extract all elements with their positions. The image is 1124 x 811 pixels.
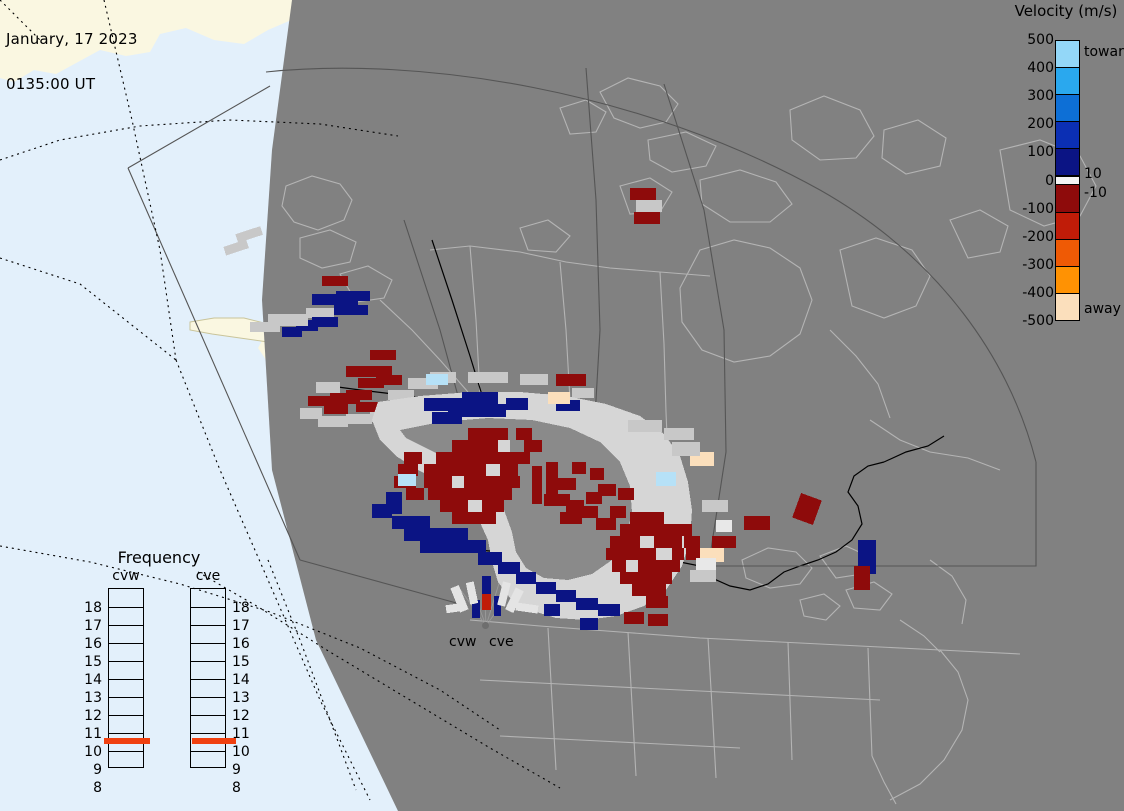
colorbar-segment-350: [1056, 68, 1079, 95]
colorbar-segment-0: [1056, 176, 1079, 185]
frequency-tick-right-12: 12: [232, 708, 254, 724]
radar-label-cvw: cvw: [449, 634, 476, 650]
frequency-tick-left-15: 15: [80, 654, 102, 670]
frequency-tick-left-14: 14: [80, 672, 102, 688]
frequency-tick-right-17: 17: [232, 618, 254, 634]
velocity-colorbar: Velocity (m/s) 5004003002001000-100-200-…: [996, 0, 1124, 340]
colorbar-away-label: away: [1084, 301, 1121, 317]
colorbar-segment--50: [1056, 185, 1079, 212]
plot-date: January, 17 2023: [6, 32, 138, 47]
data-cell-group-yukon: [250, 276, 370, 337]
frequency-tick-left-17: 17: [80, 618, 102, 634]
frequency-gridline: [109, 625, 143, 626]
frequency-gridline: [191, 733, 225, 734]
frequency-gridline: [191, 643, 225, 644]
frequency-gridline: [191, 751, 225, 752]
datetime-title: January, 17 2023 0135:00 UT: [6, 2, 138, 122]
frequency-gridline: [191, 607, 225, 608]
frequency-gridline: [191, 679, 225, 680]
frequency-gridline: [191, 715, 225, 716]
colorbar-tick--100: -100: [1022, 201, 1054, 217]
colorbar-segment-150: [1056, 122, 1079, 149]
colorbar-tick--300: -300: [1022, 257, 1054, 273]
colorbar-segment-50: [1056, 149, 1079, 176]
colorbar-inner-top-label: 10: [1084, 166, 1102, 182]
frequency-tick-left-9: 9: [80, 762, 102, 778]
colorbar-tick-400: 400: [1027, 60, 1054, 76]
frequency-tick-right-13: 13: [232, 690, 254, 706]
frequency-tick-right-16: 16: [232, 636, 254, 652]
frequency-marker-cve: [192, 738, 236, 744]
colorbar-tick-200: 200: [1027, 116, 1054, 132]
frequency-tick-left-16: 16: [80, 636, 102, 652]
radar-plot-canvas: January, 17 2023 0135:00 UT Velocity (m/…: [0, 0, 1124, 811]
colorbar-segment-450: [1056, 41, 1079, 68]
frequency-gridline: [191, 625, 225, 626]
frequency-column-label-cvw: cvw: [104, 568, 148, 584]
colorbar-gradient: [1055, 40, 1080, 321]
frequency-tick-left-10: 10: [80, 744, 102, 760]
frequency-tick-right-18: 18: [232, 600, 254, 616]
frequency-gridline: [109, 733, 143, 734]
colorbar-segment--450: [1056, 294, 1079, 320]
frequency-gridline: [109, 697, 143, 698]
frequency-gridline: [109, 679, 143, 680]
colorbar-segment--350: [1056, 267, 1079, 294]
frequency-tick-left-8: 8: [80, 780, 102, 796]
radar-label-cve: cve: [489, 634, 514, 650]
frequency-tick-left-12: 12: [80, 708, 102, 724]
colorbar-tick--200: -200: [1022, 229, 1054, 245]
frequency-gridline: [109, 643, 143, 644]
frequency-marker-cvw: [104, 738, 150, 744]
colorbar-segment--150: [1056, 213, 1079, 240]
colorbar-segment--250: [1056, 240, 1079, 267]
frequency-gridline: [109, 661, 143, 662]
frequency-tick-right-9: 9: [232, 762, 254, 778]
colorbar-toward-label: toward: [1084, 44, 1124, 60]
colorbar-tick-0: 0: [1045, 173, 1054, 189]
frequency-column-label-cve: cve: [186, 568, 230, 584]
frequency-gridline: [109, 607, 143, 608]
frequency-tick-left-13: 13: [80, 690, 102, 706]
colorbar-tick-100: 100: [1027, 144, 1054, 160]
colorbar-title: Velocity (m/s): [1004, 2, 1124, 20]
colorbar-inner-bottom-label: -10: [1084, 185, 1107, 201]
frequency-legend: Frequency cvwcve181817171616151514141313…: [84, 548, 234, 788]
frequency-tick-right-14: 14: [232, 672, 254, 688]
frequency-gridline: [191, 661, 225, 662]
radar-site-dot: [482, 622, 489, 629]
frequency-gridline: [191, 697, 225, 698]
frequency-tick-right-15: 15: [232, 654, 254, 670]
frequency-tick-right-11: 11: [232, 726, 254, 742]
colorbar-tick--500: -500: [1022, 313, 1054, 329]
data-cell-group-nw: [223, 226, 263, 255]
frequency-tick-right-10: 10: [232, 744, 254, 760]
frequency-gridline: [109, 715, 143, 716]
colorbar-tick-500: 500: [1027, 32, 1054, 48]
colorbar-tick--400: -400: [1022, 285, 1054, 301]
colorbar-tick-300: 300: [1027, 88, 1054, 104]
frequency-tick-left-18: 18: [80, 600, 102, 616]
frequency-tick-left-11: 11: [80, 726, 102, 742]
colorbar-segment-250: [1056, 95, 1079, 122]
frequency-title: Frequency: [84, 548, 234, 567]
frequency-gridline: [109, 751, 143, 752]
plot-time: 0135:00 UT: [6, 77, 138, 92]
frequency-tick-right-8: 8: [232, 780, 254, 796]
